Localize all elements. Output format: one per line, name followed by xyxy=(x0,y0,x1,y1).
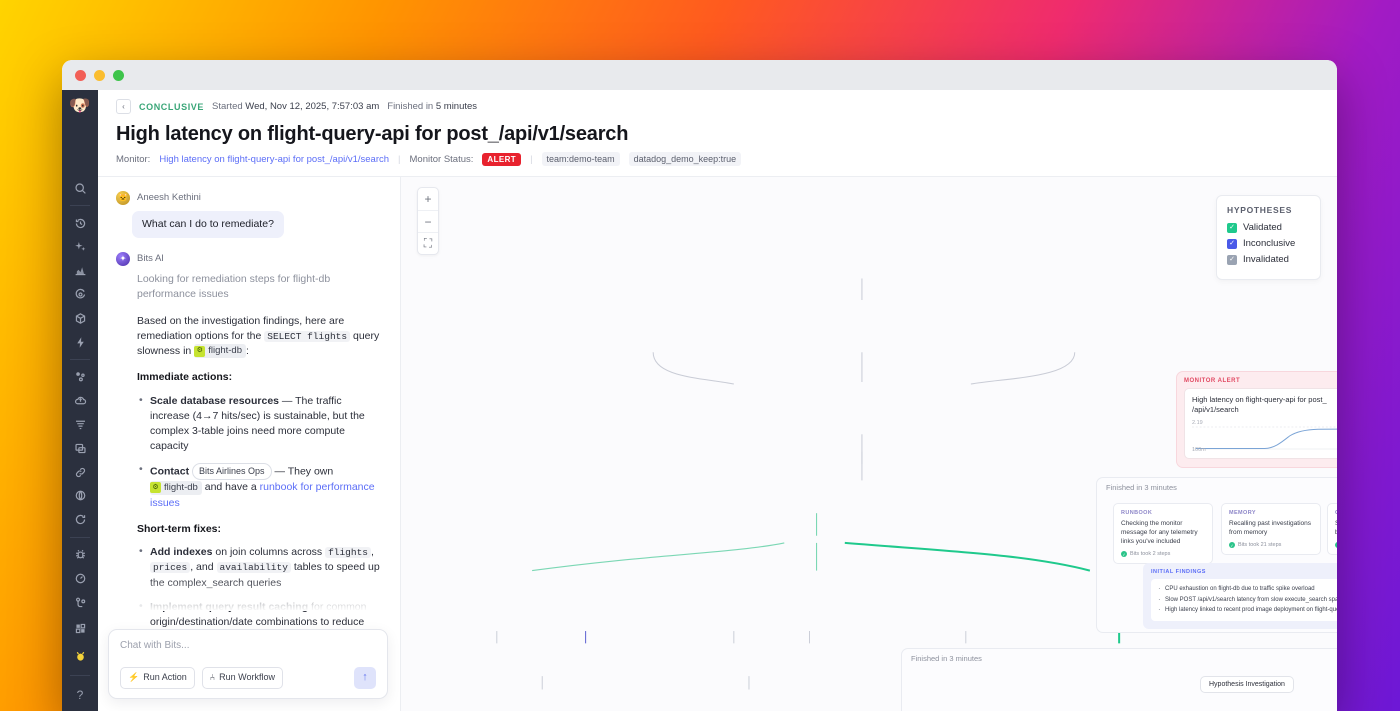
rail-divider xyxy=(70,205,90,206)
status-badge: CONCLUSIVE xyxy=(139,102,204,112)
chip-label: flight-db xyxy=(208,344,242,358)
scroll-fade xyxy=(98,577,400,611)
check-icon: ✓ xyxy=(1229,542,1235,548)
window-maximize-button[interactable] xyxy=(113,70,124,81)
send-button[interactable]: ↑ xyxy=(354,667,376,689)
run-workflow-label: Run Workflow xyxy=(219,671,275,684)
bolt-icon[interactable] xyxy=(67,332,93,352)
integrations-icon[interactable] xyxy=(67,616,93,640)
checkbox-checked-icon[interactable]: ✓ xyxy=(1227,239,1237,249)
item-bold: Scale database resources xyxy=(150,395,279,407)
flight-db-chip[interactable]: ⚙flight-db xyxy=(150,481,202,495)
legend-title: HYPOTHESES xyxy=(1227,205,1310,215)
hypothesis-investigation-root[interactable]: Hypothesis Investigation xyxy=(1200,676,1294,693)
fit-view-button[interactable]: ⛶ xyxy=(418,232,438,254)
check-icon: ✓ xyxy=(1121,551,1127,557)
monitor-alert-node[interactable]: MONITOR ALERT High latency on flight-que… xyxy=(1176,371,1337,468)
monitor-status-label: Monitor Status: xyxy=(410,154,474,165)
legend-item-validated[interactable]: ✓ Validated xyxy=(1227,222,1310,233)
bolt-icon: ⚡ xyxy=(128,671,139,684)
intro-post: : xyxy=(246,345,249,357)
meta-divider: | xyxy=(398,154,400,165)
investigation-graph-canvas[interactable]: + − ⛶ HYPOTHESES ✓ Validated ✓ Inconclus… xyxy=(401,177,1337,711)
cube-icon[interactable] xyxy=(67,309,93,329)
initial-findings-box: ⧉ CPU exhaustion on flight-db due to tra… xyxy=(1151,579,1337,621)
synthetics-icon[interactable] xyxy=(67,510,93,530)
database-icon: ⚙ xyxy=(194,346,205,357)
finished-value: 5 minutes xyxy=(436,101,477,112)
monitor-link[interactable]: High latency on flight-query-api for pos… xyxy=(159,154,389,165)
main-area: ‹ CONCLUSIVE Started Wed, Nov 12, 2025, … xyxy=(98,90,1337,711)
user-message-header: 🐱 Aneesh Kethini xyxy=(116,191,384,205)
immediate-actions-heading: Immediate actions: xyxy=(137,370,384,385)
short-term-heading: Short-term fixes: xyxy=(137,522,384,537)
initial-findings-node[interactable]: INITIAL FINDINGS ⧉ CPU exhaustion on fli… xyxy=(1143,563,1337,629)
item-bold: Add indexes xyxy=(150,546,212,558)
bits-icon[interactable] xyxy=(67,644,93,668)
window-minimize-button[interactable] xyxy=(94,70,105,81)
started-value: Wed, Nov 12, 2025, 7:57:03 am xyxy=(245,101,379,112)
bug-icon[interactable] xyxy=(67,544,93,564)
runbook-card-label: RUNBOOK xyxy=(1121,510,1205,516)
chat-composer[interactable]: Chat with Bits... ⚡ Run Action ⑃ Run Wor… xyxy=(108,629,388,700)
monitor-alert-card: High latency on flight-query-api for pos… xyxy=(1184,388,1337,459)
zoom-controls: + − ⛶ xyxy=(417,187,439,255)
initial-findings-label: INITIAL FINDINGS xyxy=(1151,569,1337,575)
list-item: High latency linked to recent prod image… xyxy=(1158,605,1337,616)
code-availability: availability xyxy=(217,562,291,573)
search-icon[interactable] xyxy=(67,179,93,199)
chat-input-placeholder[interactable]: Chat with Bits... xyxy=(120,639,376,654)
cloud-icon[interactable] xyxy=(67,391,93,411)
started-label: Started Wed, Nov 12, 2025, 7:57:03 am xyxy=(212,101,379,112)
finished-label-text: Finished in xyxy=(387,101,433,112)
chip-label: flight-db xyxy=(164,481,198,495)
logs-icon[interactable] xyxy=(67,415,93,435)
item-bold: Contact xyxy=(150,466,189,478)
list-item: CPU exhaustion on flight-db due to traff… xyxy=(1158,584,1337,595)
general-search-card[interactable]: GENERAL SEARCH Scanning your environment… xyxy=(1327,503,1337,555)
target-icon[interactable] xyxy=(67,285,93,305)
monitor-label: Monitor: xyxy=(116,154,150,165)
runbook-card-text: Checking the monitor message for any tel… xyxy=(1121,519,1205,546)
chart-svg xyxy=(1192,420,1337,454)
list-item: Scale database resources — The traffic i… xyxy=(137,394,384,455)
legend-item-inconclusive[interactable]: ✓ Inconclusive xyxy=(1227,238,1310,249)
back-button[interactable]: ‹ xyxy=(116,99,131,114)
general-search-card-steps: ✓ Bits took 2 steps xyxy=(1335,542,1337,548)
memory-card[interactable]: MEMORY Recalling past investigations fro… xyxy=(1221,503,1321,555)
monitor-status-badge: ALERT xyxy=(482,153,521,166)
run-workflow-button[interactable]: ⑃ Run Workflow xyxy=(202,667,283,688)
code-prices: prices xyxy=(150,562,190,573)
dashboards-icon[interactable] xyxy=(67,261,93,281)
steps-label: Bits took 2 steps xyxy=(1130,551,1170,557)
legend-label: Invalidated xyxy=(1243,254,1289,265)
apm-icon[interactable] xyxy=(67,367,93,387)
rail-divider xyxy=(70,359,90,360)
steps-label: Bits took 21 steps xyxy=(1238,542,1281,548)
monitor-alert-title: High latency on flight-query-api for pos… xyxy=(1192,395,1337,415)
run-action-button[interactable]: ⚡ Run Action xyxy=(120,667,195,688)
started-label-text: Started xyxy=(212,101,243,112)
page-title: High latency on flight-query-api for pos… xyxy=(116,123,1321,146)
breadcrumb: ‹ CONCLUSIVE Started Wed, Nov 12, 2025, … xyxy=(116,99,1321,114)
bot-thinking-text: Looking for remediation steps for flight… xyxy=(137,272,384,302)
window-titlebar xyxy=(62,60,1337,90)
phase1-duration-label: Finished in 3 minutes xyxy=(1106,483,1177,492)
checkbox-checked-icon[interactable]: ✓ xyxy=(1227,255,1237,265)
link-icon[interactable] xyxy=(67,462,93,482)
team-chip[interactable]: Bits Airlines Ops xyxy=(192,463,272,480)
bot-name: Bits AI xyxy=(137,252,164,266)
memory-card-text: Recalling past investigations from memor… xyxy=(1229,519,1313,537)
list-item: Slow POST /api/v1/search latency from sl… xyxy=(1158,595,1337,606)
bot-message-header: ✦ Bits AI xyxy=(116,252,384,266)
item-rest: — They own xyxy=(272,466,334,478)
monitor-alert-chart: 2.19 100m xyxy=(1192,420,1337,454)
workflow-icon: ⑃ xyxy=(210,671,215,684)
runbook-card-steps: ✓ Bits took 2 steps xyxy=(1121,551,1205,557)
bot-intro-paragraph: Based on the investigation findings, her… xyxy=(137,314,384,360)
help-icon[interactable]: ? xyxy=(67,683,93,707)
monitor-alert-label: MONITOR ALERT xyxy=(1184,378,1337,384)
window-close-button[interactable] xyxy=(75,70,86,81)
profiler-icon[interactable] xyxy=(67,568,93,588)
avatar: 🐱 xyxy=(116,191,130,205)
general-search-card-label: GENERAL SEARCH xyxy=(1335,510,1337,516)
immediate-actions-list: Scale database resources — The traffic i… xyxy=(137,394,384,511)
general-search-card-text: Scanning your environment broadly for is… xyxy=(1335,519,1337,537)
intro-code: SELECT flights xyxy=(264,331,350,342)
legend-label: Inconclusive xyxy=(1243,238,1295,249)
rail-divider xyxy=(70,537,90,538)
user-name: Aneesh Kethini xyxy=(137,191,201,205)
chart-y-tick-top: 2.19 xyxy=(1192,420,1203,426)
datadog-logo-icon[interactable]: 🐶 xyxy=(67,95,93,116)
meta-divider: | xyxy=(530,154,532,165)
flight-db-chip[interactable]: ⚙flight-db xyxy=(194,344,246,358)
history-icon[interactable] xyxy=(67,213,93,233)
zoom-out-button[interactable]: − xyxy=(418,210,438,232)
check-icon: ✓ xyxy=(1335,542,1337,548)
user-message-bubble: What can I do to remediate? xyxy=(132,211,284,238)
rum-icon[interactable] xyxy=(67,438,93,458)
tag-team[interactable]: team:demo-team xyxy=(542,152,620,166)
ci-icon[interactable] xyxy=(67,592,93,612)
memory-card-label: MEMORY xyxy=(1229,510,1313,516)
phase2-duration-label: Finished in 3 minutes xyxy=(911,654,982,663)
legend-label: Validated xyxy=(1243,222,1282,233)
code-flights: flights xyxy=(325,547,371,558)
sparkle-icon[interactable] xyxy=(67,237,93,257)
page-submeta: Monitor: High latency on flight-query-ap… xyxy=(116,152,1321,166)
legend-item-invalidated[interactable]: ✓ Invalidated xyxy=(1227,254,1310,265)
list-item: Contact Bits Airlines Ops — They own ⚙fl… xyxy=(137,463,384,510)
app-window: 🐶 xyxy=(62,60,1337,711)
left-nav-rail: 🐶 xyxy=(62,90,98,711)
rail-divider xyxy=(70,675,90,676)
runbook-card[interactable]: RUNBOOK Checking the monitor message for… xyxy=(1113,503,1213,564)
item-pre: on join columns across xyxy=(212,546,325,558)
chart-y-tick-bottom: 100m xyxy=(1192,447,1206,453)
hypotheses-legend: HYPOTHESES ✓ Validated ✓ Inconclusive ✓ … xyxy=(1216,195,1321,280)
globe-icon[interactable] xyxy=(67,486,93,506)
item-rest2: and have a xyxy=(202,481,260,493)
database-icon: ⚙ xyxy=(150,482,161,493)
tag-demo-keep[interactable]: datadog_demo_keep:true xyxy=(629,152,742,166)
checkbox-checked-icon[interactable]: ✓ xyxy=(1227,223,1237,233)
chat-panel: 🐱 Aneesh Kethini What can I do to remedi… xyxy=(98,177,401,711)
finished-label: Finished in 5 minutes xyxy=(387,101,477,112)
page-header: ‹ CONCLUSIVE Started Wed, Nov 12, 2025, … xyxy=(98,90,1337,177)
run-action-label: Run Action xyxy=(143,671,187,684)
zoom-in-button[interactable]: + xyxy=(418,188,438,210)
avatar: ✦ xyxy=(116,252,130,266)
memory-card-steps: ✓ Bits took 21 steps xyxy=(1229,542,1313,548)
